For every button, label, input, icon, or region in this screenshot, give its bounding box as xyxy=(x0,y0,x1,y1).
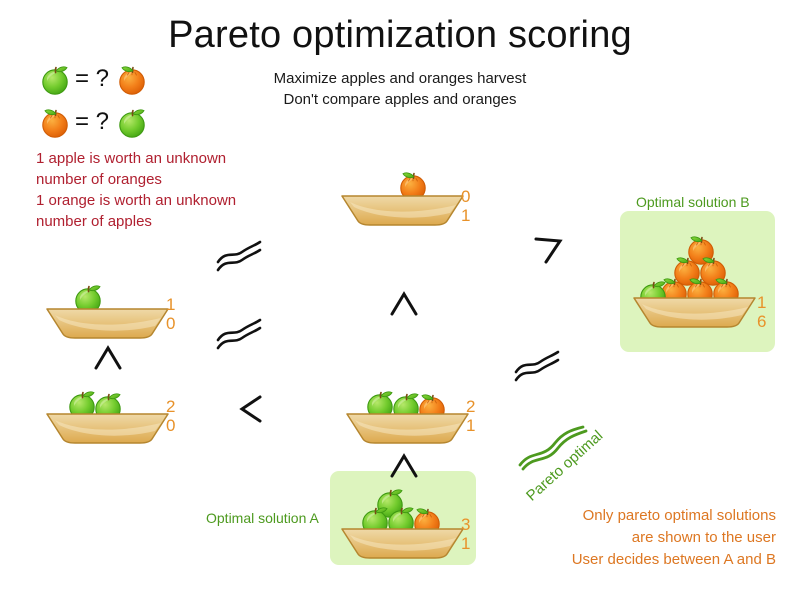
bowl-icon xyxy=(345,411,470,445)
bowl-icon xyxy=(45,306,170,340)
score-apples: 1 xyxy=(166,295,175,314)
solution-a-label: Optimal solution A xyxy=(206,510,319,526)
equation-apple-equals-orange: = ? xyxy=(38,62,149,96)
score-two-apples-one-orange: 2 1 xyxy=(466,397,475,435)
solution-bowl-two-apples xyxy=(45,386,170,441)
comparison-greater-up-icon xyxy=(389,452,419,478)
score-two-apples: 2 0 xyxy=(166,397,175,435)
score-solution-a: 3 1 xyxy=(461,515,470,553)
bowl-icon xyxy=(340,526,465,560)
solution-bowl-one-orange xyxy=(340,168,465,223)
footer-line-1: Only pareto optimal solutions xyxy=(480,505,776,527)
comparison-incomparable-icon xyxy=(514,350,566,382)
equation-operator-1: = ? xyxy=(75,65,109,93)
score-apples: 2 xyxy=(166,397,175,416)
comparison-greater-up-icon xyxy=(93,344,123,370)
orange-icon xyxy=(38,105,72,139)
note-line-2: number of oranges xyxy=(36,169,296,190)
score-apples: 2 xyxy=(466,397,475,416)
subtitle-line-1: Maximize apples and oranges harvest xyxy=(200,68,600,89)
equation-orange-equals-apple: = ? xyxy=(38,105,149,139)
solution-bowl-b xyxy=(632,232,757,324)
score-solution-b: 1 6 xyxy=(757,293,766,331)
comparison-incomparable-icon xyxy=(216,318,268,350)
comparison-less-than-icon xyxy=(237,394,265,424)
bowl-icon xyxy=(340,193,465,227)
page-title: Pareto optimization scoring xyxy=(0,14,800,57)
score-oranges: 1 xyxy=(466,416,475,435)
comparison-less-rotated-icon xyxy=(533,236,565,266)
solution-bowl-one-apple xyxy=(45,281,170,336)
score-oranges: 6 xyxy=(757,312,766,331)
score-oranges: 1 xyxy=(461,206,470,225)
orange-icon xyxy=(115,62,149,96)
score-one-apple: 1 0 xyxy=(166,295,175,333)
bowl-icon xyxy=(632,295,757,329)
solution-b-label: Optimal solution B xyxy=(636,194,750,210)
note-line-3: 1 orange is worth an unknown xyxy=(36,190,296,211)
apple-icon xyxy=(38,62,72,96)
solution-bowl-two-apples-one-orange xyxy=(345,386,470,441)
score-oranges: 0 xyxy=(166,416,175,435)
comparison-greater-up-icon xyxy=(389,290,419,316)
score-apples: 3 xyxy=(461,515,470,534)
score-one-orange: 0 1 xyxy=(461,187,470,225)
score-oranges: 1 xyxy=(461,534,470,553)
apple-icon xyxy=(115,105,149,139)
note-line-1: 1 apple is worth an unknown xyxy=(36,148,296,169)
comparison-incomparable-icon xyxy=(216,240,268,272)
unknown-value-note: 1 apple is worth an unknown number of or… xyxy=(36,148,296,232)
footer-note: Only pareto optimal solutions are shown … xyxy=(480,505,776,571)
score-apples: 0 xyxy=(461,187,470,206)
subtitle-line-2: Don't compare apples and oranges xyxy=(200,89,600,110)
footer-line-2: are shown to the user xyxy=(480,527,776,549)
footer-line-3: User decides between A and B xyxy=(480,549,776,571)
bowl-icon xyxy=(45,411,170,445)
subtitle-block: Maximize apples and oranges harvest Don'… xyxy=(200,68,600,110)
solution-bowl-a xyxy=(340,485,465,555)
infographic-canvas: Pareto optimization scoring Maximize app… xyxy=(0,0,800,600)
score-apples: 1 xyxy=(757,293,766,312)
equation-operator-2: = ? xyxy=(75,108,109,136)
score-oranges: 0 xyxy=(166,314,175,333)
note-line-4: number of apples xyxy=(36,211,296,232)
